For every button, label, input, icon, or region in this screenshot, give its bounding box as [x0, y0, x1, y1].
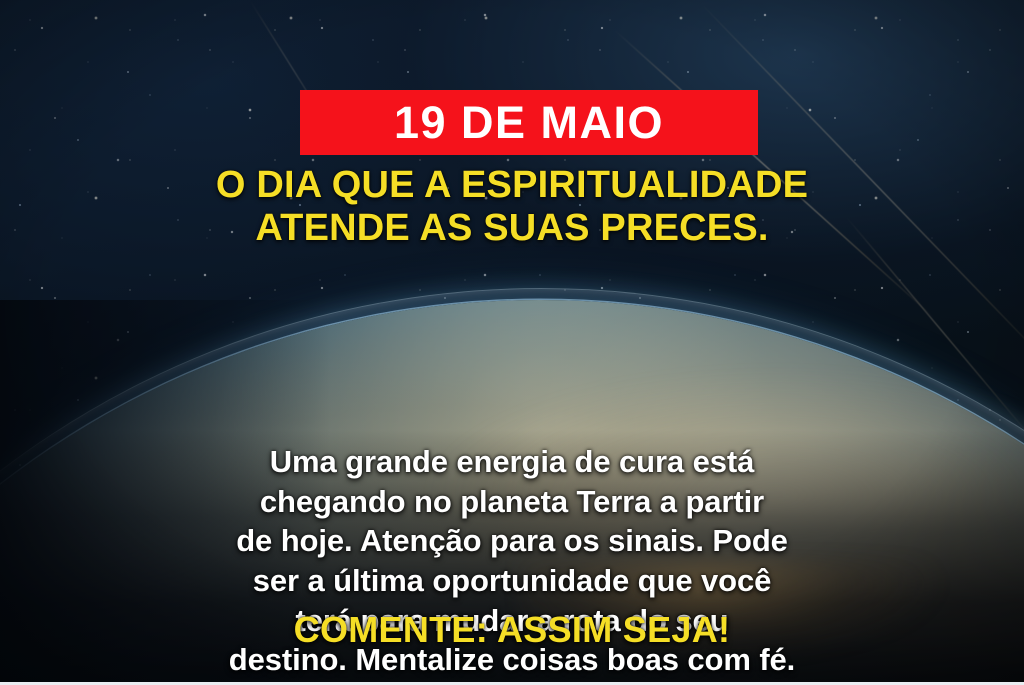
headline: O DIA QUE A ESPIRITUALIDADE ATENDE AS SU…: [0, 164, 1024, 250]
body-line-3: de hoje. Atenção para os sinais. Pode: [0, 521, 1024, 561]
call-to-action-text: COMENTE: ASSIM SEJA!: [0, 612, 1024, 648]
poster-canvas: 19 DE MAIO O DIA QUE A ESPIRITUALIDADE A…: [0, 0, 1024, 685]
body-line-1: Uma grande energia de cura está: [0, 442, 1024, 482]
date-banner: 19 DE MAIO: [300, 90, 758, 155]
date-banner-text: 19 DE MAIO: [394, 100, 664, 145]
body-line-4: ser a última oportunidade que você: [0, 561, 1024, 601]
poster-content: 19 DE MAIO O DIA QUE A ESPIRITUALIDADE A…: [0, 0, 1024, 685]
headline-line-1: O DIA QUE A ESPIRITUALIDADE: [0, 164, 1024, 207]
body-line-2: chegando no planeta Terra a partir: [0, 482, 1024, 522]
headline-line-2: ATENDE AS SUAS PRECES.: [0, 207, 1024, 250]
